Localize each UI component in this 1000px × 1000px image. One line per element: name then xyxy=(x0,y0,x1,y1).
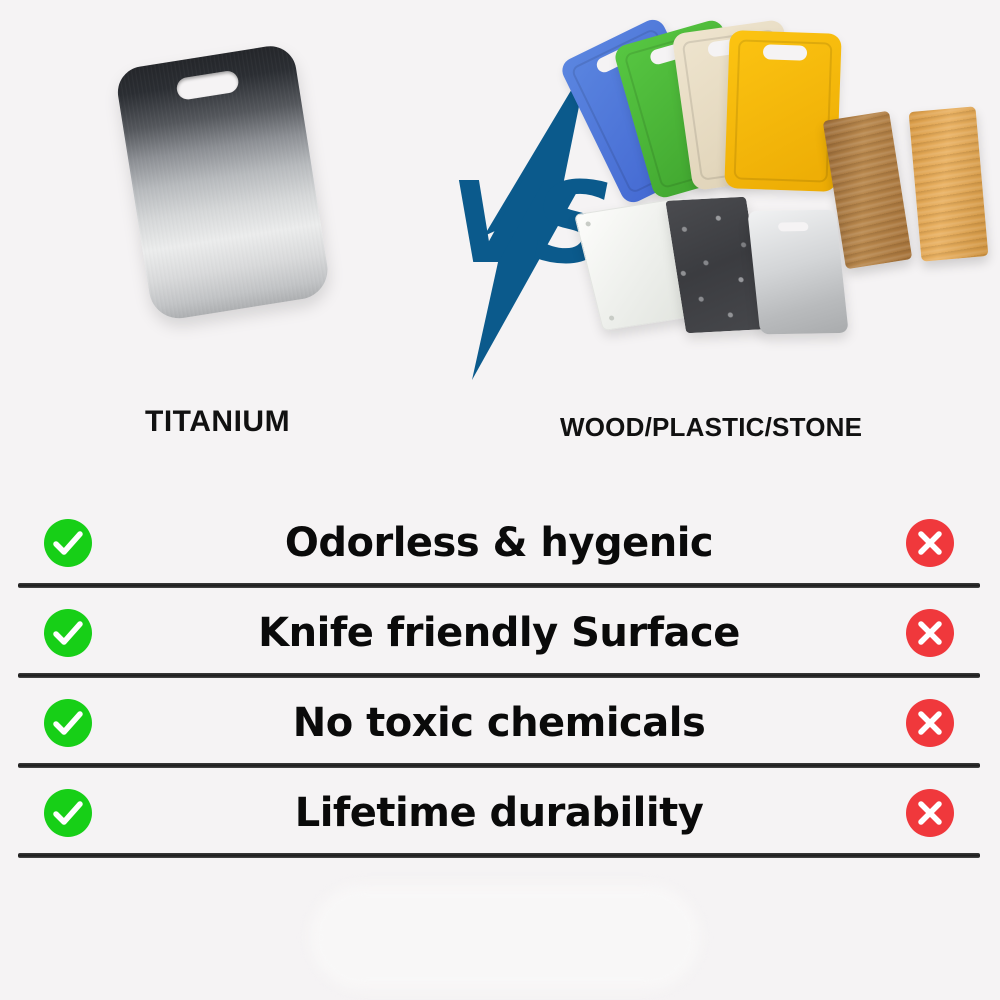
feature-label: Odorless & hygenic xyxy=(118,520,880,566)
wood-board-light xyxy=(909,106,989,261)
feature-label: Knife friendly Surface xyxy=(118,610,880,656)
feature-label: Lifetime durability xyxy=(118,790,880,836)
table-row: No toxic chemicals xyxy=(0,678,1000,768)
row-left-status xyxy=(18,518,118,568)
cross-circle-icon xyxy=(905,698,955,748)
comparison-infographic: VS TITANIUM xyxy=(0,0,1000,1000)
table-row: Odorless & hygenic xyxy=(0,498,1000,588)
cross-circle-icon xyxy=(905,608,955,658)
table-row: Knife friendly Surface xyxy=(0,588,1000,678)
cross-circle-icon xyxy=(905,518,955,568)
label-wood-plastic-stone: WOOD/PLASTIC/STONE xyxy=(560,412,940,443)
background-watermark xyxy=(310,885,700,990)
handle-hole xyxy=(763,44,807,61)
titanium-cutting-board xyxy=(114,42,332,322)
category-labels: TITANIUM WOOD/PLASTIC/STONE xyxy=(0,405,1000,460)
row-right-status xyxy=(880,518,980,568)
plastic-board-yellow xyxy=(724,30,841,192)
check-circle-icon xyxy=(43,518,93,568)
comparison-table: Odorless & hygenic Knife friendly Surfac… xyxy=(0,498,1000,858)
row-right-status xyxy=(880,608,980,658)
metal-board-gray xyxy=(747,210,848,335)
row-right-status xyxy=(880,698,980,748)
feature-label: No toxic chemicals xyxy=(118,700,880,746)
stone-boards-group xyxy=(588,190,878,350)
check-circle-icon xyxy=(43,698,93,748)
row-left-status xyxy=(18,608,118,658)
hero-product-images: VS xyxy=(0,0,1000,395)
check-circle-icon xyxy=(43,608,93,658)
cross-circle-icon xyxy=(905,788,955,838)
row-divider xyxy=(18,853,980,858)
check-circle-icon xyxy=(43,788,93,838)
handle-hole xyxy=(778,222,809,231)
row-right-status xyxy=(880,788,980,838)
table-row: Lifetime durability xyxy=(0,768,1000,858)
label-titanium: TITANIUM xyxy=(145,405,345,439)
row-left-status xyxy=(18,698,118,748)
row-left-status xyxy=(18,788,118,838)
